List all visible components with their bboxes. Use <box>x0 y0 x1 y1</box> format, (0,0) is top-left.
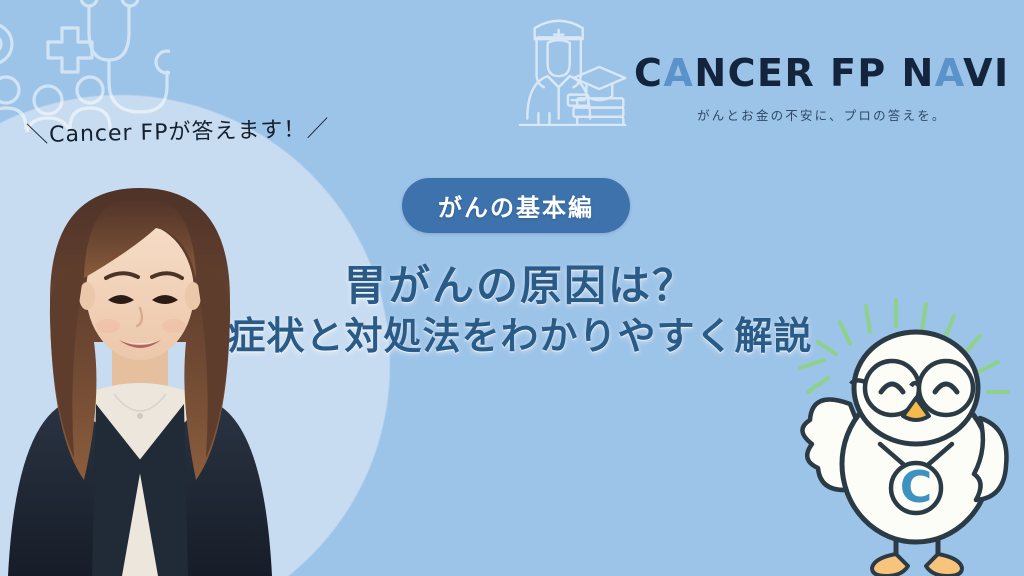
handwritten-kicker: ＼Cancer FPが答えます！／ <box>26 111 330 149</box>
brand-logo: CANCER FP NAVI がんとお金の不安に、プロの答えを。 <box>506 4 976 140</box>
owl-foot-right <box>926 554 962 576</box>
owl-pendant: C <box>891 462 941 513</box>
owl-mascot: C <box>788 296 1018 576</box>
brand-name-seg1: C <box>634 51 663 95</box>
brand-name-seg2: NCER FP N <box>694 51 934 95</box>
brand-name: CANCER FP NAVI <box>634 54 1010 92</box>
brand-name-accent2: A <box>935 51 963 95</box>
presenter-photo <box>0 150 330 576</box>
brand-tagline: がんとお金の不安に、プロの答えを。 <box>697 105 947 124</box>
nurse-graduation-books-icon <box>506 6 628 126</box>
kicker-open-slash: ＼ <box>26 117 50 149</box>
medical-cross-icon <box>48 28 92 72</box>
brand-name-seg3: VI <box>963 51 1010 95</box>
thumbnail-canvas: CANCER FP NAVI がんとお金の不安に、プロの答えを。 ＼Cancer… <box>0 0 1024 576</box>
brand-name-accent1: A <box>663 51 694 95</box>
owl-foot-left <box>872 554 908 576</box>
category-badge-label: がんの基本編 <box>438 188 594 223</box>
owl-pendant-letter: C <box>900 462 932 513</box>
kicker-text: Cancer FPが答えます！ <box>49 117 307 147</box>
presenter-figure <box>8 188 272 576</box>
kicker-close-slash: ／ <box>306 111 330 143</box>
category-badge[interactable]: がんの基本編 <box>402 178 630 233</box>
owl-body: C <box>802 332 1006 576</box>
circle-target-icon <box>0 24 12 64</box>
